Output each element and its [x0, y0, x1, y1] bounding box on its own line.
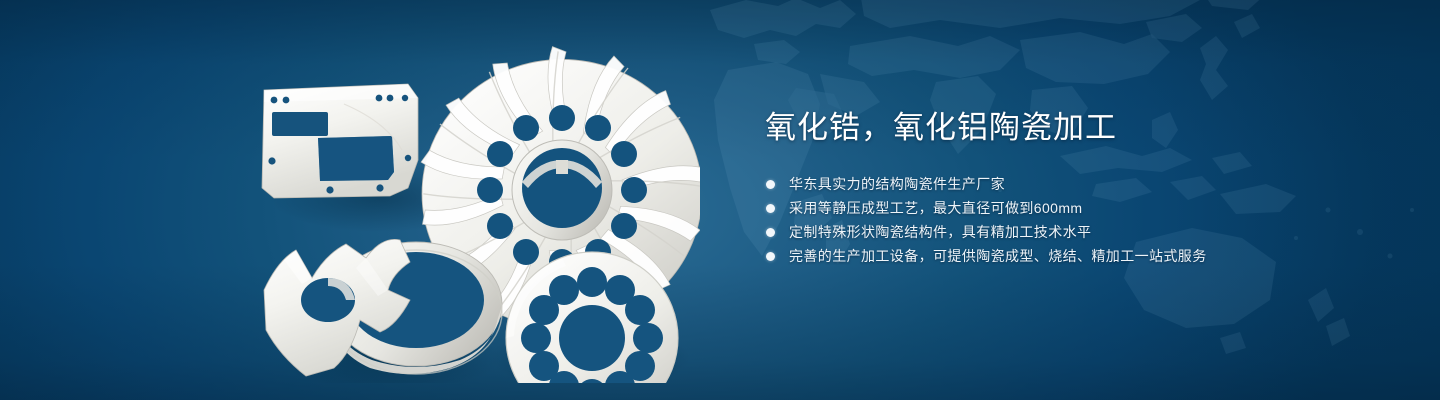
- list-item: 定制特殊形状陶瓷结构件，具有精加工技术水平: [765, 220, 1385, 244]
- bullet-dot-icon: [766, 204, 775, 213]
- feature-list: 华东具实力的结构陶瓷件生产厂家 采用等静压成型工艺，最大直径可做到600mm 定…: [765, 172, 1385, 268]
- banner-copy: 氧化锆，氧化铝陶瓷加工 华东具实力的结构陶瓷件生产厂家 采用等静压成型工艺，最大…: [765, 108, 1385, 268]
- list-item-label: 定制特殊形状陶瓷结构件，具有精加工技术水平: [789, 224, 1091, 240]
- list-item-label: 采用等静压成型工艺，最大直径可做到600mm: [789, 200, 1082, 216]
- list-item: 完善的生产加工设备，可提供陶瓷成型、烧结、精加工一站式服务: [765, 244, 1385, 268]
- bullet-dot-icon: [766, 228, 775, 237]
- hero-banner: 氧化锆，氧化铝陶瓷加工 华东具实力的结构陶瓷件生产厂家 采用等静压成型工艺，最大…: [0, 0, 1440, 400]
- bullet-dot-icon: [766, 180, 775, 189]
- ceramic-plate-part: [262, 84, 418, 198]
- list-item: 华东具实力的结构陶瓷件生产厂家: [765, 172, 1385, 196]
- list-item: 采用等静压成型工艺，最大直径可做到600mm: [765, 196, 1385, 220]
- page-title: 氧化锆，氧化铝陶瓷加工: [765, 108, 1385, 148]
- list-item-label: 完善的生产加工设备，可提供陶瓷成型、烧结、精加工一站式服务: [789, 248, 1207, 264]
- bullet-dot-icon: [766, 252, 775, 261]
- ceramic-products-image: [240, 38, 700, 383]
- list-item-label: 华东具实力的结构陶瓷件生产厂家: [789, 176, 1005, 192]
